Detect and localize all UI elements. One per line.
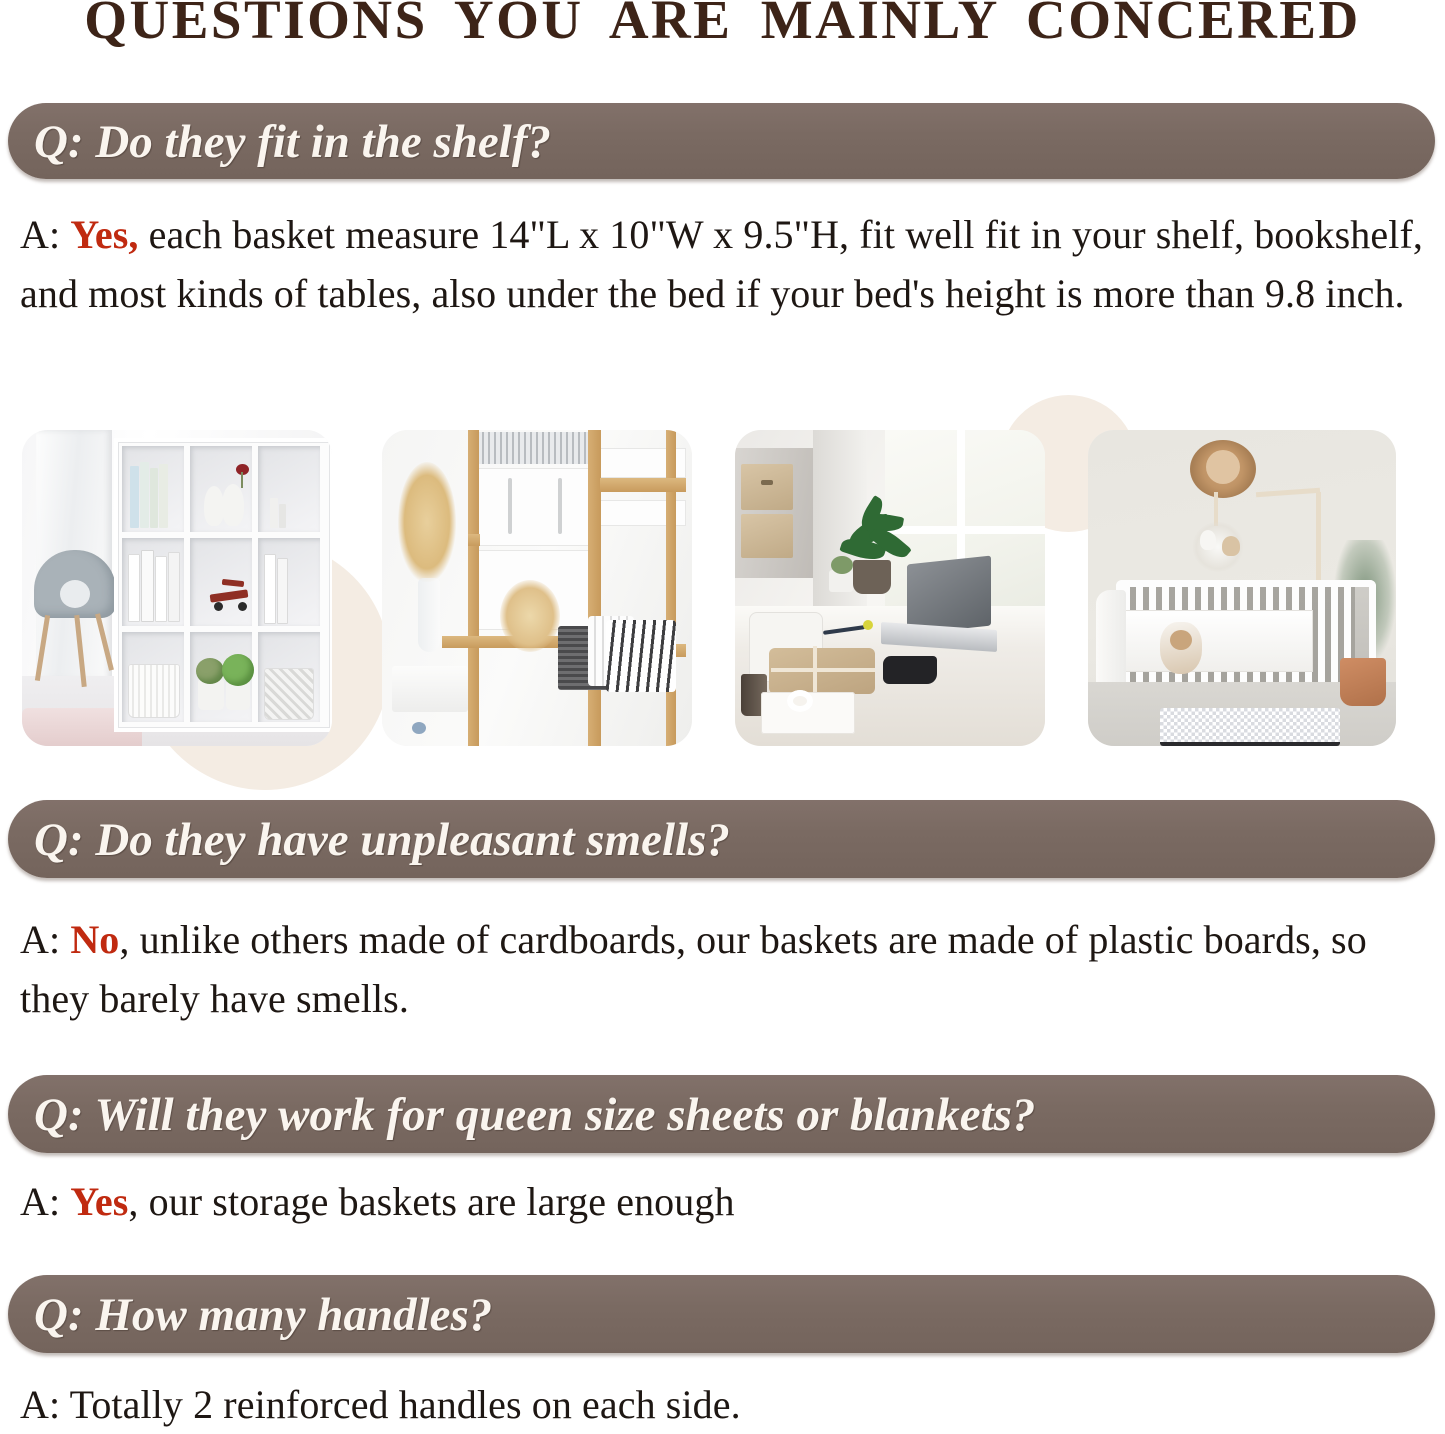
answer-text-4: A: Totally 2 reinforced handles on each … [20, 1375, 1420, 1434]
answer-body-4: Totally 2 reinforced handles on each sid… [70, 1382, 741, 1427]
answer-body-2: , unlike others made of cardboards, our … [20, 917, 1367, 1021]
answer-text-2: A: No, unlike others made of cardboards,… [20, 910, 1420, 1028]
gallery-photo-shelf [22, 430, 332, 746]
answer-highlight-1: Yes, [70, 212, 138, 257]
question-banner-1: Q: Do they fit in the shelf? [8, 103, 1435, 179]
answer-body-1: each basket measure 14"L x 10"W x 9.5"H,… [20, 212, 1423, 316]
question-text-2: Q: Do they have unpleasant smells? [34, 813, 730, 867]
answer-text-3: A: Yes, our storage baskets are large en… [20, 1172, 1420, 1231]
answer-highlight-2: No [70, 917, 119, 962]
gallery-photo-nursery [1088, 430, 1396, 746]
gallery-photo-desk [735, 430, 1045, 746]
gallery-photo-bamboo-rack [382, 430, 692, 746]
answer-text-1: A: Yes, each basket measure 14"L x 10"W … [20, 205, 1432, 323]
question-banner-2: Q: Do they have unpleasant smells? [8, 800, 1435, 878]
question-text-4: Q: How many handles? [34, 1288, 492, 1342]
answer-body-3: , our storage baskets are large enough [128, 1179, 734, 1224]
answer-prefix-2: A: [20, 917, 70, 962]
answer-prefix-3: A: [20, 1179, 70, 1224]
answer-prefix-1: A: [20, 212, 70, 257]
photo-gallery [0, 430, 1445, 750]
question-text-1: Q: Do they fit in the shelf? [34, 115, 551, 169]
question-banner-3: Q: Will they work for queen size sheets … [8, 1075, 1435, 1153]
question-banner-4: Q: How many handles? [8, 1275, 1435, 1353]
answer-highlight-3: Yes [70, 1179, 128, 1224]
answer-prefix-4: A: [20, 1382, 70, 1427]
page-title: QUESTIONS YOU ARE MAINLY CONCERED [0, 0, 1445, 53]
question-text-3: Q: Will they work for queen size sheets … [34, 1088, 1035, 1142]
